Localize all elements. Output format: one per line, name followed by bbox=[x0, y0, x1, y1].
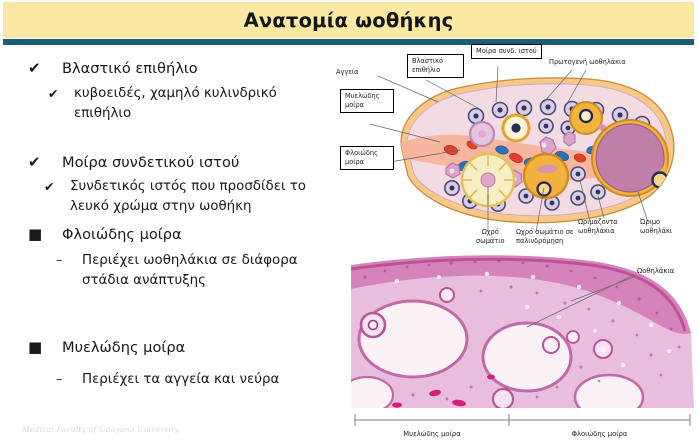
check-icon: ✔ bbox=[48, 84, 74, 104]
list-item-label: Μοίρα συνδετικού ιστού bbox=[62, 152, 239, 173]
title-rule bbox=[3, 39, 694, 45]
list-item-label: Περιέχει τα αγγεία και νεύρα bbox=[82, 370, 279, 390]
square-bullet-icon: ■ bbox=[28, 224, 62, 244]
list-item: – Περιέχει ωοθηλάκια σε διάφορα στάδια α… bbox=[56, 251, 330, 291]
list-item-label: Βλαστικό επιθήλιο bbox=[62, 58, 198, 79]
list-item: – Περιέχει τα αγγεία και νεύρα bbox=[56, 370, 279, 390]
list-item: ✔ Βλαστικό επιθήλιο bbox=[28, 58, 198, 79]
scale-label-cortex: Φλοιώδης μοίρα bbox=[509, 430, 690, 438]
diagram-label-connective-tissue: Μοίρα συνδ. ιστού bbox=[471, 44, 542, 59]
histology-label-follicles: Ωοθηλάκια bbox=[637, 267, 674, 275]
diagram-label-medulla: Μυελώδης μοίρα bbox=[340, 89, 394, 113]
list-item: ■ Φλοιώδης μοίρα bbox=[28, 224, 182, 245]
region-scale-bar: Μυελώδης μοίρα Φλοιώδης μοίρα bbox=[351, 410, 694, 444]
list-item-label: Μυελώδης μοίρα bbox=[62, 337, 185, 358]
title-banner: Ανατομία ωοθήκης bbox=[3, 2, 694, 38]
ovary-schematic-diagram: Αγγεία Πρωτογενή ωοθηλάκια Ωχρό σωμάτιο … bbox=[330, 46, 698, 246]
histology-micrograph: Ωοθηλάκια bbox=[351, 247, 694, 408]
diagram-label-cortex: Φλοιώδης μοίρα bbox=[340, 146, 394, 170]
diagram-label-maturing-follicles: Ωριμάζοντα ωοθηλάκια bbox=[578, 218, 618, 235]
scale-label-medulla: Μυελώδης μοίρα bbox=[355, 430, 509, 438]
list-item-label: Φλοιώδης μοίρα bbox=[62, 224, 182, 245]
slide-canvas: Ανατομία ωοθήκης ✔ Βλαστικό επιθήλιο ✔ κ… bbox=[0, 0, 698, 448]
dash-bullet-icon: – bbox=[56, 370, 82, 388]
list-item-label: κυβοειδές, χαμηλό κυλινδρικό επιθήλιο bbox=[74, 84, 330, 124]
diagram-label-corpus-luteum: Ωχρό σωμάτιο bbox=[476, 228, 504, 245]
scale-bar-graphic bbox=[351, 410, 694, 444]
page-title: Ανατομία ωοθήκης bbox=[3, 2, 694, 38]
list-item: ■ Μυελώδης μοίρα bbox=[28, 337, 185, 358]
square-bullet-icon: ■ bbox=[28, 337, 62, 357]
check-icon: ✔ bbox=[28, 58, 62, 79]
diagram-label-vessels: Αγγεία bbox=[336, 68, 358, 77]
check-icon: ✔ bbox=[44, 177, 70, 197]
list-item-label: Συνδετικός ιστός που προσδίδει το λευκό … bbox=[70, 177, 330, 217]
list-item: ✔ κυβοειδές, χαμηλό κυλινδρικό επιθήλιο bbox=[48, 84, 330, 124]
list-item-label: Περιέχει ωοθηλάκια σε διάφορα στάδια ανά… bbox=[82, 251, 330, 291]
diagram-label-primary-follicles: Πρωτογενή ωοθηλάκια bbox=[549, 58, 626, 67]
list-item: ✔ Μοίρα συνδετικού ιστού bbox=[28, 152, 239, 173]
bullet-list: ✔ Βλαστικό επιθήλιο ✔ κυβοειδές, χαμηλό … bbox=[0, 52, 330, 422]
diagram-label-mature-follicle: Ώριμο ωοθηλάκι bbox=[640, 218, 672, 235]
check-icon: ✔ bbox=[28, 152, 62, 173]
dash-bullet-icon: – bbox=[56, 251, 82, 269]
diagram-label-germinal-epithelium: Βλαστικό επιθήλιο bbox=[407, 54, 464, 78]
footer-credit: Medical Faculty of Udayana University. bbox=[22, 425, 181, 434]
list-item: ✔ Συνδετικός ιστός που προσδίδει το λευκ… bbox=[44, 177, 330, 217]
diagram-label-corpus-albicans: Ωχρό σωμάτιο σε παλινδρόμηση bbox=[516, 228, 573, 245]
